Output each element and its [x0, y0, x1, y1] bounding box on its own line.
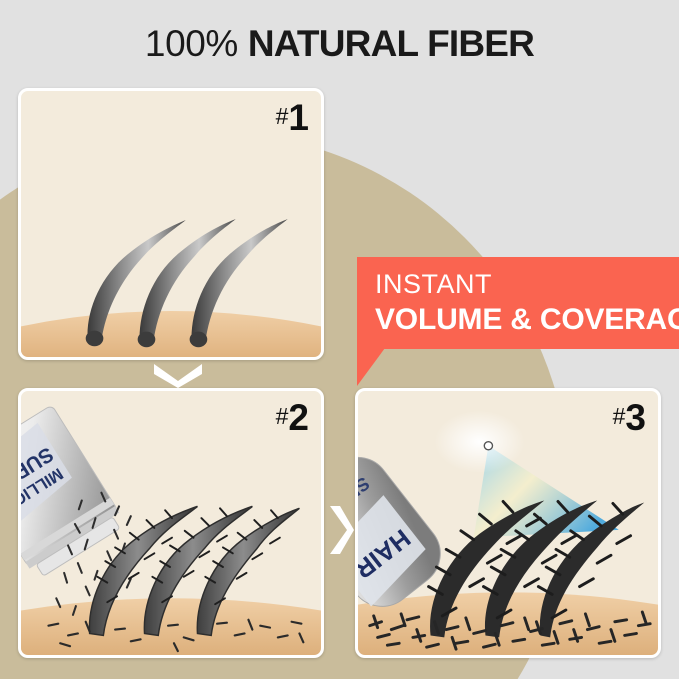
- promo-line-volume-coverage: VOLUME & COVERAGE: [375, 305, 679, 335]
- panel-2-digit: 2: [288, 397, 309, 438]
- panel-3-hash: #: [613, 403, 626, 429]
- panel-1-digit: 1: [288, 97, 309, 138]
- title-percent: 100%: [145, 23, 238, 64]
- panel-1-hash: #: [276, 103, 289, 129]
- promo-banner-text: INSTANT VOLUME & COVERAGE: [375, 271, 679, 335]
- panel-3-digit: 3: [625, 397, 646, 438]
- title-emphasis: NATURAL FIBER: [248, 23, 534, 64]
- step-panel-3[interactable]: SUPER HAIR: [355, 388, 661, 658]
- page-title: 100% NATURAL FIBER: [0, 22, 679, 66]
- banner-tail: [357, 348, 385, 386]
- panel-2-hash: #: [276, 403, 289, 429]
- panel-1-number: #1: [276, 99, 309, 136]
- step-panel-2[interactable]: SUPER MILLION: [18, 388, 324, 658]
- promo-line-instant: INSTANT: [375, 271, 679, 298]
- panel-2-number: #2: [276, 399, 309, 436]
- chevron-down-icon: [148, 360, 208, 388]
- infographic-canvas: 100% NATURAL FIBER: [0, 0, 679, 679]
- chevron-right-icon: [326, 500, 354, 560]
- step-panel-1[interactable]: #1: [18, 88, 324, 360]
- panel-3-number: #3: [613, 399, 646, 436]
- promo-banner: INSTANT VOLUME & COVERAGE: [357, 257, 679, 349]
